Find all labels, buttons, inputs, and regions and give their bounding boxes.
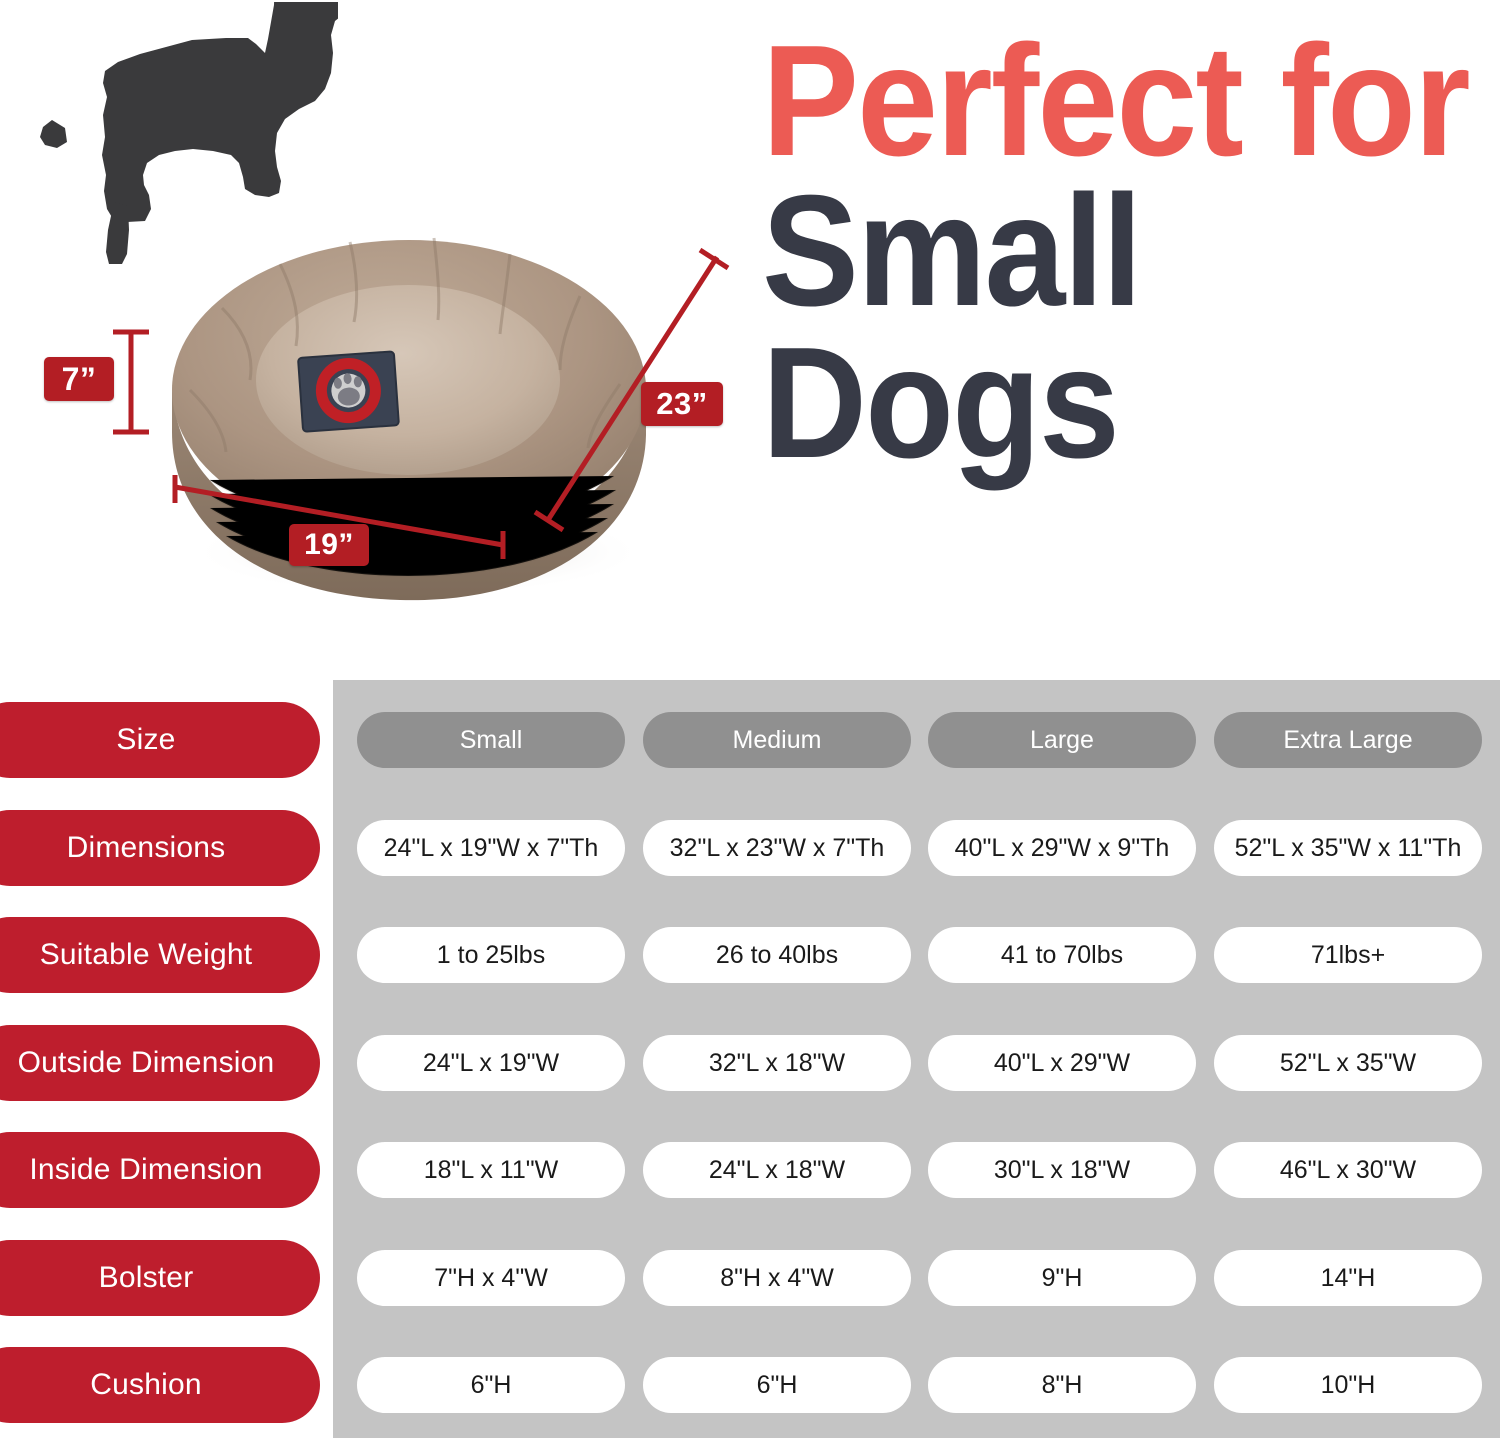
- table-cell: 24"L x 19"W x 7"Th: [357, 820, 625, 876]
- table-cell: 46"L x 30"W: [1214, 1142, 1482, 1198]
- table-cell: 7"H x 4"W: [357, 1250, 625, 1306]
- row-label-suitable-weight: Suitable Weight: [0, 917, 320, 993]
- headline-line-3: Dogs: [762, 336, 1434, 472]
- column-header-medium: Medium: [643, 712, 911, 768]
- table-cell: 8"H: [928, 1357, 1196, 1413]
- headline-line-1: Perfect for: [762, 34, 1434, 170]
- row-label-outside-dimension: Outside Dimension: [0, 1025, 320, 1101]
- table-cell: 26 to 40lbs: [643, 927, 911, 983]
- callout-height: 7”: [44, 357, 114, 401]
- table-cell: 52"L x 35"W: [1214, 1035, 1482, 1091]
- column-header-small: Small: [357, 712, 625, 768]
- table-cell: 9"H: [928, 1250, 1196, 1306]
- height-measure-line: [113, 332, 149, 432]
- table-cell: 14"H: [1214, 1250, 1482, 1306]
- table-cell: 52"L x 35"W x 11"Th: [1214, 820, 1482, 876]
- table-cell: 30"L x 18"W: [928, 1142, 1196, 1198]
- table-cell: 40"L x 29"W x 9"Th: [928, 820, 1196, 876]
- table-cell: 1 to 25lbs: [357, 927, 625, 983]
- table-cell: 41 to 70lbs: [928, 927, 1196, 983]
- headline-line-2: Small: [762, 184, 1434, 320]
- column-header-large: Large: [928, 712, 1196, 768]
- row-label-inside-dimension: Inside Dimension: [0, 1132, 320, 1208]
- table-cell: 10"H: [1214, 1357, 1482, 1413]
- row-label-bolster: Bolster: [0, 1240, 320, 1316]
- headline: Perfect for Small Dogs: [762, 34, 1492, 472]
- table-cell: 40"L x 29"W: [928, 1035, 1196, 1091]
- row-label-size: Size: [0, 702, 320, 778]
- row-label-dimensions: Dimensions: [0, 810, 320, 886]
- table-cell: 32"L x 23"W x 7"Th: [643, 820, 911, 876]
- table-label-column: SizeDimensionsSuitable WeightOutside Dim…: [0, 680, 333, 1444]
- table-background: SmallMediumLargeExtra Large24"L x 19"W x…: [333, 680, 1500, 1438]
- table-cell: 24"L x 19"W: [357, 1035, 625, 1091]
- table-cell: 6"H: [643, 1357, 911, 1413]
- specification-table: SmallMediumLargeExtra Large24"L x 19"W x…: [0, 680, 1500, 1444]
- callout-length: 23”: [641, 382, 723, 426]
- table-cell: 6"H: [357, 1357, 625, 1413]
- table-cell: 71lbs+: [1214, 927, 1482, 983]
- table-cell: 8"H x 4"W: [643, 1250, 911, 1306]
- table-cell: 32"L x 18"W: [643, 1035, 911, 1091]
- table-cell: 18"L x 11"W: [357, 1142, 625, 1198]
- callout-width: 19”: [289, 524, 369, 566]
- column-header-extra-large: Extra Large: [1214, 712, 1482, 768]
- table-cell: 24"L x 18"W: [643, 1142, 911, 1198]
- row-label-cushion: Cushion: [0, 1347, 320, 1423]
- hero-section: Perfect for Small Dogs 7” 19” 23”: [0, 0, 1500, 680]
